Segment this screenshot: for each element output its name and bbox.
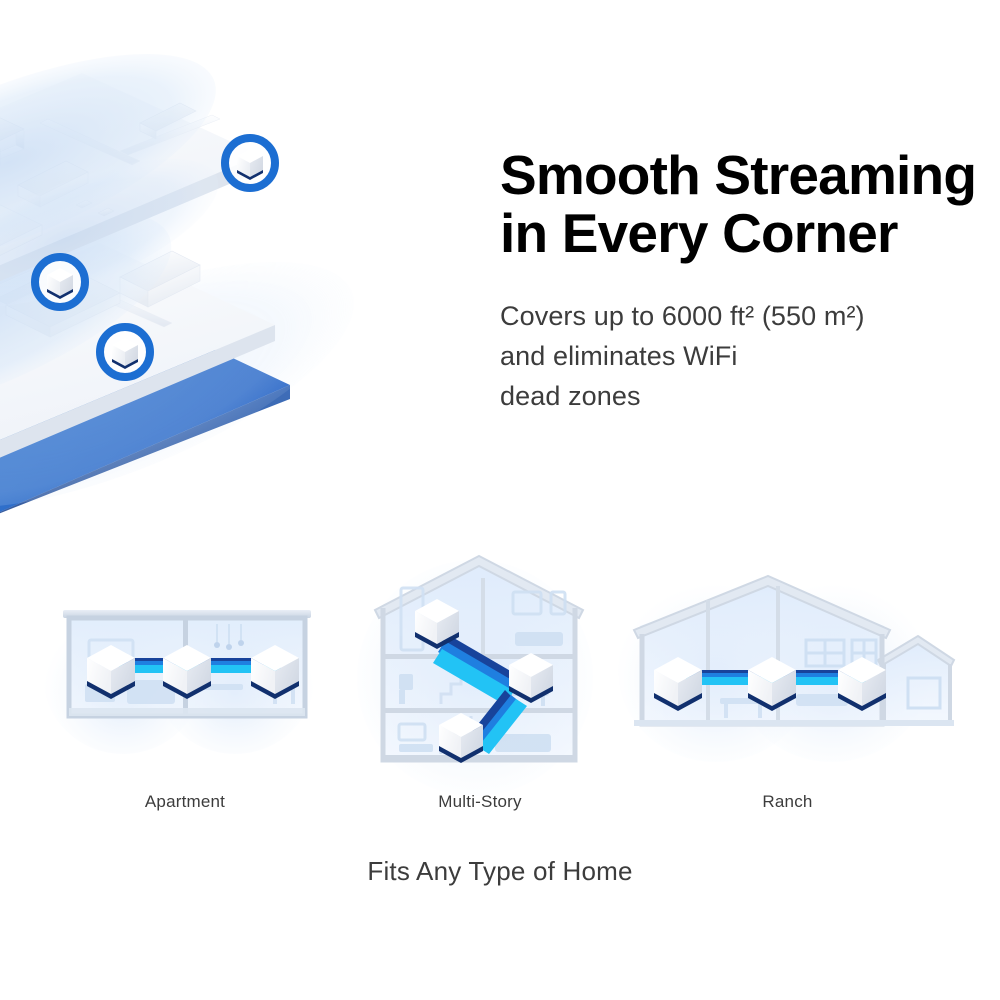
home-type-multi-story: Multi-Story (355, 548, 605, 788)
section-caption: Fits Any Type of Home (0, 856, 1000, 887)
page-title: Smooth Streaming in Every Corner (500, 146, 970, 262)
home-type-apartment: Apartment (35, 548, 335, 768)
hero-title-line-1: Smooth Streaming (500, 144, 976, 206)
hero-subtitle-line-1: Covers up to 6000 ft² (550 m²) (500, 301, 865, 331)
mesh-unit-badge (224, 137, 276, 189)
apartment-illustration (35, 548, 335, 768)
mesh-unit-badge (99, 326, 151, 378)
multi-story-illustration (355, 548, 605, 788)
home-types-section: Apartment (0, 548, 1000, 838)
mesh-unit-badge (34, 256, 86, 308)
marketing-feature-page: Smooth Streaming in Every Corner Covers … (0, 0, 1000, 1000)
hero-copy: Smooth Streaming in Every Corner Covers … (500, 146, 970, 416)
home-type-label: Apartment (35, 792, 335, 812)
hero-subtitle-line-2: and eliminates WiFi (500, 341, 737, 371)
hero-illustration (0, 55, 500, 525)
home-type-label: Multi-Story (355, 792, 605, 812)
hero-subtitle-line-3: dead zones (500, 381, 641, 411)
home-type-label: Ranch (620, 792, 955, 812)
hero-title-line-2: in Every Corner (500, 202, 898, 264)
ranch-illustration (620, 548, 955, 768)
home-type-ranch: Ranch (620, 548, 955, 768)
hero-section: Smooth Streaming in Every Corner Covers … (0, 0, 1000, 545)
hero-subtitle: Covers up to 6000 ft² (550 m²) and elimi… (500, 296, 970, 416)
